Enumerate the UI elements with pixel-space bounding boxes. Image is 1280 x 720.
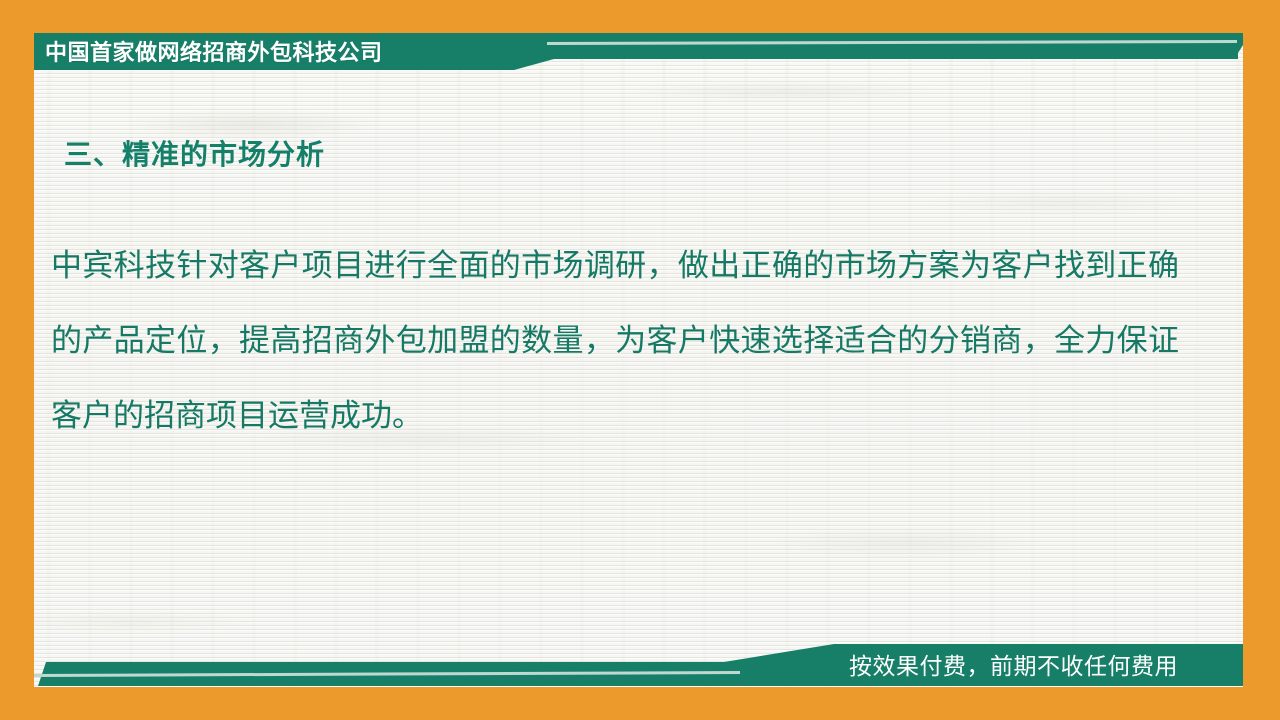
footer-tagline: 按效果付费，前期不收任何费用 [849,648,1178,684]
body-paragraph-text: 中宾科技针对客户项目进行全面的市场调研，做出正确的市场方案为客户找到正确的产品定… [51,228,1179,453]
body-paragraph: 中宾科技针对客户项目进行全面的市场调研，做出正确的市场方案为客户找到正确的产品定… [51,228,1179,453]
slide-canvas: 中国首家做网络招商外包科技公司 三、精准的市场分析 中宾科技针对客户项目进行全面… [0,0,1280,720]
header-title: 中国首家做网络招商外包科技公司 [45,36,383,70]
section-heading: 三、精准的市场分析 [64,133,325,173]
